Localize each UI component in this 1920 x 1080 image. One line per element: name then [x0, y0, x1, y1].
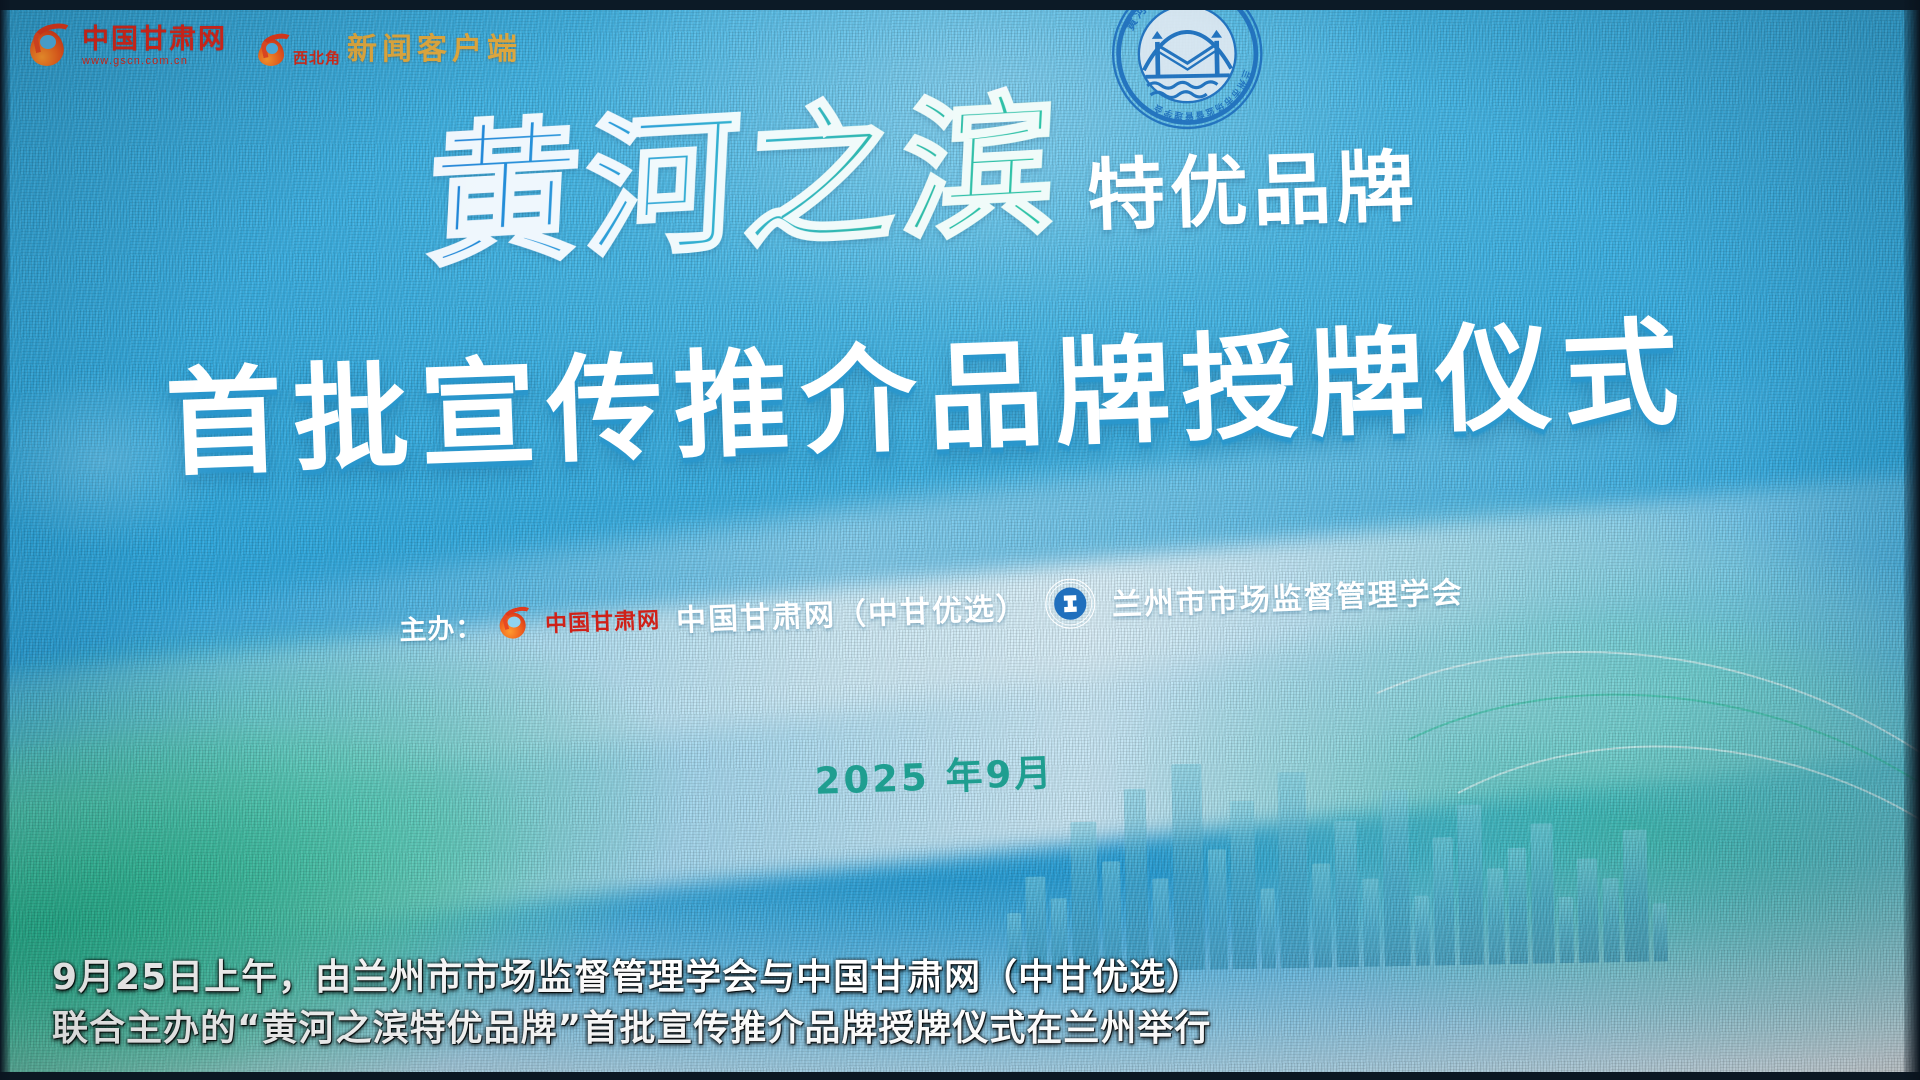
- caption-line-2: 联合主办的“黄河之滨特优品牌”首批宣传推介品牌授牌仪式在兰州举行: [52, 1003, 1920, 1054]
- frame-edge-right: [1904, 0, 1920, 1080]
- watermark-brand-cn: 中国甘肃网: [82, 26, 227, 53]
- organizer-name-2: 兰州市市场监督管理学会: [1111, 568, 1464, 625]
- brand-calligraphy: 黄河之滨: [424, 87, 1064, 274]
- xibeijiao-flame-icon: [257, 34, 287, 68]
- watermark-second-block: 西北角 新闻客户端: [257, 24, 522, 68]
- frame-edge-top: [0, 0, 1920, 10]
- watermark-brand-url: www.gscn.com.cn: [82, 56, 227, 67]
- watermark-brand-block: 中国甘肃网 www.gscn.com.cn: [82, 26, 227, 67]
- caption-overlay: 9月25日上午，由兰州市市场监督管理学会与中国甘肃网（中甘优选） 联合主办的“黄…: [0, 952, 1920, 1054]
- gansu-net-flame-icon: [499, 607, 530, 640]
- led-screen: 黄河之滨特优品牌 兰州市市场监督管理学会 黄河之滨 特优品牌 首批宣传推介品牌授…: [0, 0, 1920, 1080]
- organizer-name-1: 中国甘肃网（中甘优选）: [675, 583, 1028, 640]
- organizer-logo-text: 中国甘肃网: [545, 602, 661, 638]
- frame-edge-left: [0, 0, 10, 1080]
- event-date-text: 2025 年9月: [814, 751, 1055, 803]
- organizer-label: 主办：: [398, 605, 483, 647]
- circular-bridge-seal-icon: 黄河之滨特优品牌 兰州市市场监督管理学会: [1108, 0, 1267, 133]
- watermark-app-label: 新闻客户端: [347, 24, 522, 68]
- brand-suffix: 特优品牌: [1085, 124, 1420, 246]
- frame-edge-bottom: [0, 1072, 1920, 1080]
- gansu-net-flame-icon: [28, 24, 68, 68]
- caption-line-1: 9月25日上午，由兰州市市场监督管理学会与中国甘肃网（中甘优选）: [52, 952, 1920, 1003]
- event-headline-text: 首批宣传推介品牌授牌仪式: [164, 306, 1692, 493]
- photo-frame: 黄河之滨特优品牌 兰州市市场监督管理学会 黄河之滨 特优品牌 首批宣传推介品牌授…: [0, 0, 1920, 1080]
- channel-watermark: 中国甘肃网 www.gscn.com.cn 西北角 新闻客户端: [28, 24, 522, 68]
- lanzhou-association-seal-icon: [1043, 577, 1097, 631]
- watermark-second-mark-cn: 西北角: [293, 47, 341, 68]
- brand-row: 黄河之滨 特优品牌: [0, 33, 1886, 318]
